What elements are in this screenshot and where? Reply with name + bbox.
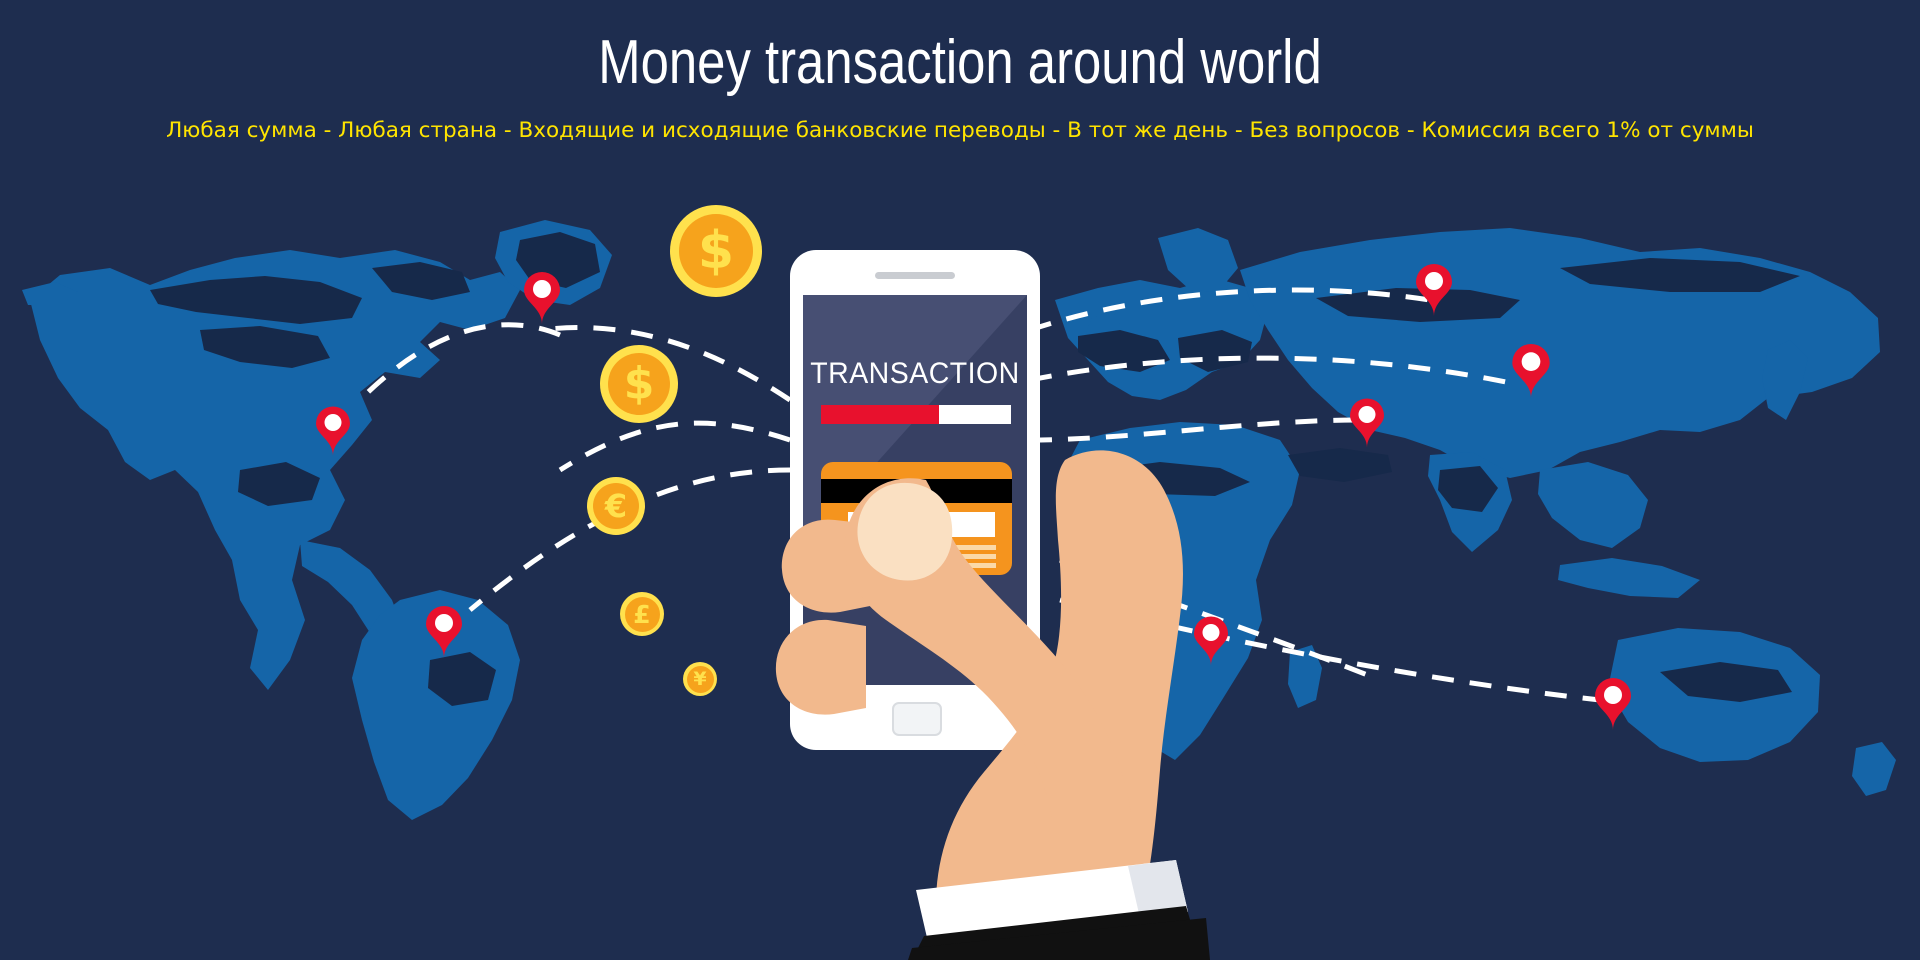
pin-middle-east[interactable] (1350, 398, 1384, 448)
pin-north-america[interactable] (316, 406, 350, 456)
screen-title: TRANSACTION (809, 357, 1022, 391)
header: Money transaction around world Любая сум… (0, 0, 1920, 142)
thumb-nail (857, 483, 952, 581)
coin-symbol: $ (698, 225, 734, 277)
coin-dollar-medium[interactable]: $ (600, 345, 678, 423)
pin-australia[interactable] (1595, 678, 1631, 730)
coin-symbol: ¥ (693, 670, 706, 689)
route-right-1 (1030, 290, 1430, 330)
finger-middle (776, 620, 866, 715)
speaker-grill (875, 272, 955, 279)
coin-symbol: $ (624, 362, 655, 406)
coin-symbol: € (605, 490, 627, 522)
page-title: Money transaction around world (173, 32, 1747, 94)
coin-pound[interactable]: £ (620, 592, 664, 636)
coin-dollar-large[interactable]: $ (670, 205, 762, 297)
poster-canvas: $ $ € £ ¥ TRANSACTION (0, 0, 1920, 960)
hand-holding-phone (740, 420, 1300, 960)
route-right-2 (1030, 358, 1520, 385)
coin-euro[interactable]: € (587, 477, 645, 535)
coin-yen[interactable]: ¥ (683, 662, 717, 696)
route-left-1 (360, 325, 560, 400)
pin-greenland[interactable] (524, 272, 560, 324)
pin-central-asia[interactable] (1512, 344, 1550, 398)
page-subtitle: Любая сумма - Любая страна - Входящие и … (0, 120, 1920, 142)
coin-symbol: £ (633, 602, 650, 627)
pin-north-russia[interactable] (1416, 264, 1452, 316)
pin-south-america[interactable] (426, 606, 462, 658)
